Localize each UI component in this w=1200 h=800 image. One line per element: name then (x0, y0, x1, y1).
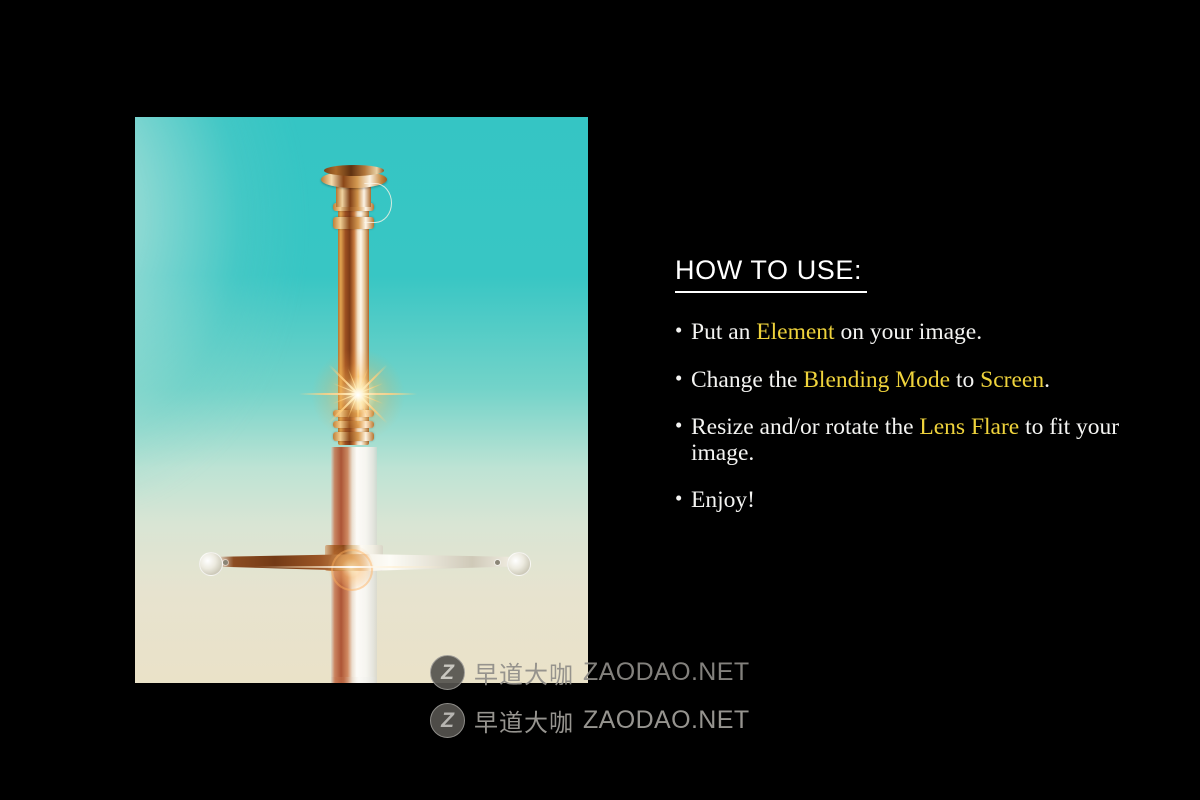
zaodao-logo-icon: Z (430, 703, 465, 738)
lens-flare-star (357, 394, 359, 396)
page-title: HOW TO USE: (675, 256, 862, 286)
highlighted-term: Blending Mode (803, 367, 950, 393)
instruction-text: Resize and/or rotate the Lens Flare to f… (691, 414, 1145, 467)
instruction-text: Put an Element on your image. (691, 319, 1145, 345)
instruction-text: Change the Blending Mode to Screen. (691, 367, 1145, 393)
crossguard-end-cap (507, 552, 531, 576)
instruction-item: •Resize and/or rotate the Lens Flare to … (675, 414, 1145, 467)
plain-text: Enjoy! (691, 487, 755, 513)
how-to-use-section: HOW TO USE: •Put an Element on your imag… (675, 256, 1145, 535)
watermark-domain-text: ZAODAO.NET (583, 658, 750, 687)
instruction-list: •Put an Element on your image.•Change th… (675, 319, 1145, 514)
flare-ray-horizontal (254, 566, 450, 568)
bullet-dot-icon: • (675, 414, 691, 438)
crossguard-rivet (495, 560, 500, 565)
sword-pommel-top (324, 165, 384, 176)
crossguard-end-cap (199, 552, 223, 576)
plain-text: Resize and/or rotate the (691, 414, 919, 440)
watermark-domain-text: ZAODAO.NET (583, 706, 750, 735)
instruction-item: •Change the Blending Mode to Screen. (675, 367, 1145, 393)
flare-glow (311, 348, 405, 442)
plain-text: to (950, 367, 980, 393)
watermark-chinese-text: 早道大咖 (474, 703, 574, 738)
crossguard-rivet (223, 560, 228, 565)
sword-pommel-loop (364, 183, 392, 223)
bullet-dot-icon: • (675, 319, 691, 343)
bullet-dot-icon: • (675, 367, 691, 391)
title-underline (675, 291, 867, 294)
plain-text: . (1044, 367, 1050, 393)
plain-text: on your image. (835, 319, 983, 345)
plain-text: Put an (691, 319, 756, 345)
highlighted-term: Element (756, 319, 834, 345)
lens-flare-secondary (350, 567, 352, 569)
instruction-item: •Put an Element on your image. (675, 319, 1145, 345)
flare-glow (328, 545, 374, 591)
bullet-dot-icon: • (675, 487, 691, 511)
instruction-item: •Enjoy! (675, 487, 1145, 513)
highlighted-term: Screen (980, 367, 1044, 393)
plain-text: Change the (691, 367, 803, 393)
watermark: Z 早道大咖 ZAODAO.NET (430, 703, 750, 738)
instruction-text: Enjoy! (691, 487, 1145, 513)
preview-image (135, 117, 588, 683)
highlighted-term: Lens Flare (919, 414, 1019, 440)
sword-blade-lower-fade (331, 677, 377, 683)
